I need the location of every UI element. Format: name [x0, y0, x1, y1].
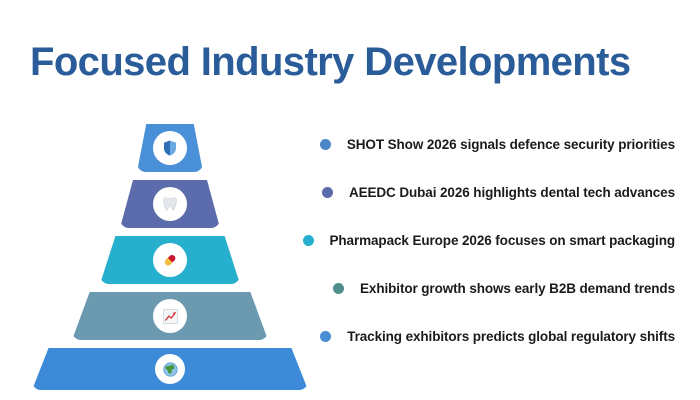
bullet-label-4: Exhibitor growth shows early B2B demand … [360, 281, 675, 296]
bullet-label-1: SHOT Show 2026 signals defence security … [347, 137, 675, 152]
list-item[interactable]: SHOT Show 2026 signals defence security … [320, 134, 675, 154]
page-title: Focused Industry Developments [30, 40, 631, 85]
bullet-list: SHOT Show 2026 signals defence security … [0, 124, 700, 364]
bullet-dot-1 [320, 139, 331, 150]
list-item[interactable]: Exhibitor growth shows early B2B demand … [333, 278, 675, 298]
bullet-label-2: AEEDC Dubai 2026 highlights dental tech … [349, 185, 675, 200]
bullet-label-5: Tracking exhibitors predicts global regu… [347, 329, 675, 344]
bullet-dot-2 [322, 187, 333, 198]
bullet-dot-4 [333, 283, 344, 294]
list-item[interactable]: AEEDC Dubai 2026 highlights dental tech … [322, 182, 675, 202]
list-item[interactable]: Tracking exhibitors predicts global regu… [320, 326, 675, 346]
bullet-label-3: Pharmapack Europe 2026 focuses on smart … [330, 233, 676, 248]
bullet-dot-5 [320, 331, 331, 342]
list-item[interactable]: Pharmapack Europe 2026 focuses on smart … [303, 230, 676, 250]
bullet-dot-3 [303, 235, 314, 246]
infographic-slide: Focused Industry Developments [0, 0, 700, 400]
